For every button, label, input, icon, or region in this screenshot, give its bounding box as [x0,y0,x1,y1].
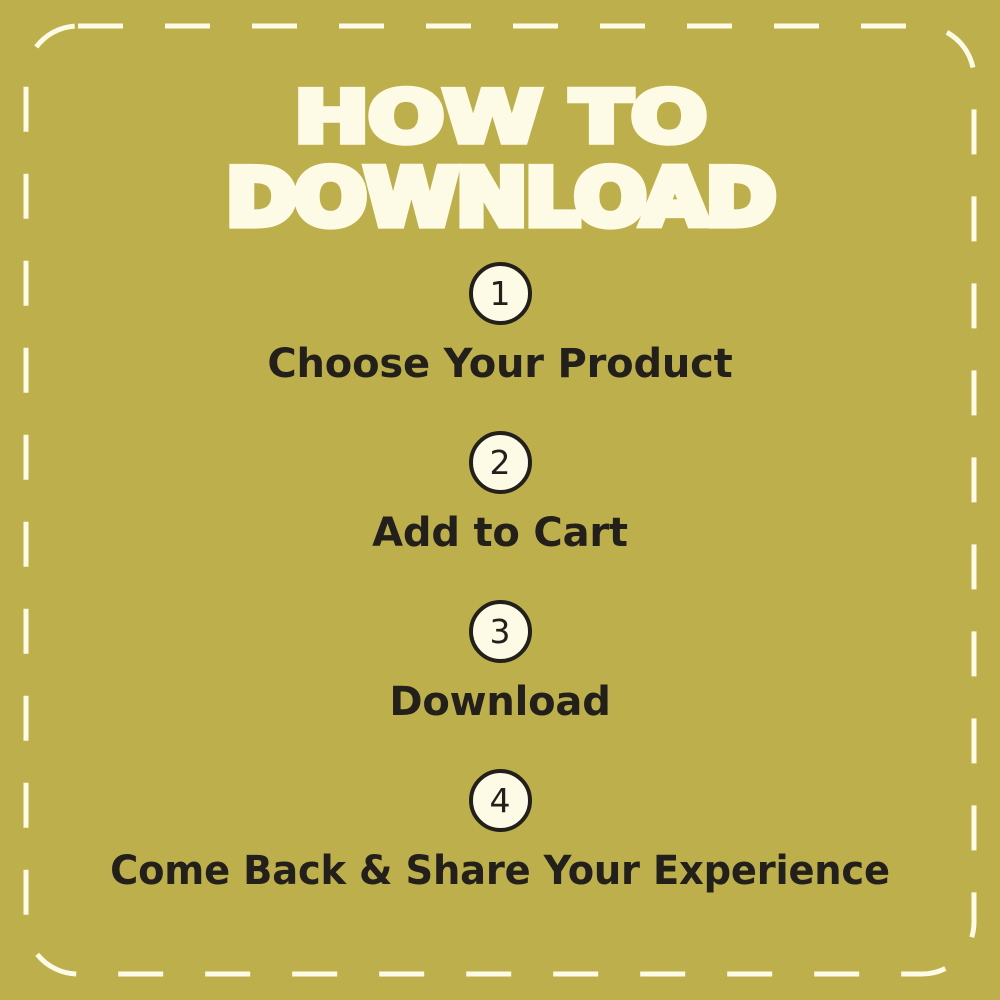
title-line-download: DOWNLOAD [0,159,1000,237]
step-badge-3: 3 [469,600,532,663]
step-number-4: 4 [473,773,528,828]
step-number-2: 2 [473,435,528,490]
step-number-1: 1 [473,266,528,321]
step-label-2: Add to Cart [0,511,1000,555]
step-badge-4: 4 [469,769,532,832]
step-item-1: 1 Choose Your Product [0,262,1000,431]
step-label-4: Come Back & Share Your Experience [20,849,980,893]
steps-list: 1 Choose Your Product 2 Add to Cart 3 Do… [0,262,1000,938]
step-item-4: 4 Come Back & Share Your Experience [0,769,1000,938]
page-title: HOW TO DOWNLOAD [0,82,1000,235]
step-item-2: 2 Add to Cart [0,431,1000,600]
step-label-3: Download [0,680,1000,724]
step-label-1: Choose Your Product [0,342,1000,386]
step-badge-2: 2 [469,431,532,494]
step-badge-1: 1 [469,262,532,325]
title-line-how-to: HOW TO [0,82,1000,153]
step-item-3: 3 Download [0,600,1000,769]
step-number-3: 3 [473,604,528,659]
how-to-download-poster: HOW TO DOWNLOAD 1 Choose Your Product 2 … [0,0,1000,1000]
